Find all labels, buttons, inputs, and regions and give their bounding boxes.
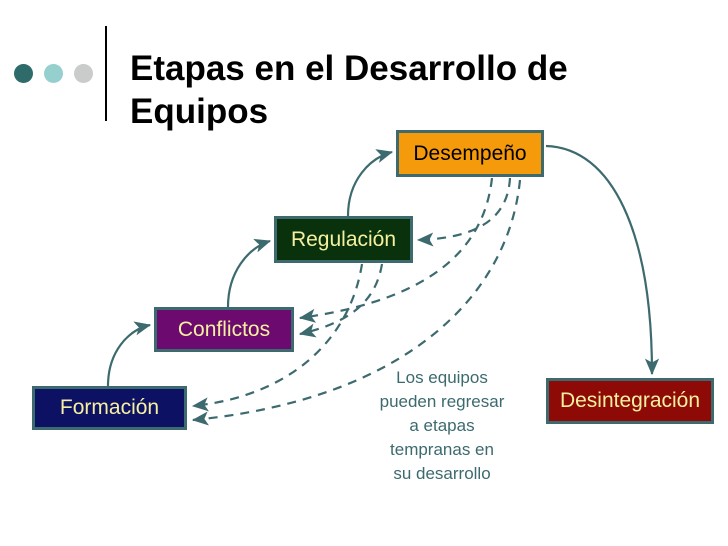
- connector-regulacion-to-desempeno: [348, 152, 392, 216]
- stage-label-regulacion: Regulación: [291, 228, 396, 252]
- stage-box-desempeno[interactable]: Desempeño: [396, 130, 544, 177]
- stage-label-conflictos: Conflictos: [178, 318, 270, 342]
- diagram-caption: Los equipos pueden regresar a etapas tem…: [362, 366, 522, 486]
- stage-box-regulacion[interactable]: Regulación: [274, 216, 413, 263]
- stage-box-formacion[interactable]: Formación: [32, 386, 187, 430]
- slide-canvas: Etapas en el Desarrollo de Equipos Desem…: [0, 0, 728, 546]
- connector-desempeno-to-desintegracion: [546, 146, 652, 374]
- stage-label-desintegracion: Desintegración: [560, 389, 700, 413]
- connector-regulacion-to-conflictos-dashed: [300, 264, 382, 334]
- connector-formacion-to-conflictos: [108, 325, 150, 386]
- stage-box-desintegracion[interactable]: Desintegración: [546, 378, 714, 424]
- connector-conflictos-to-regulacion: [228, 241, 270, 307]
- stage-label-formacion: Formación: [60, 396, 159, 420]
- connector-desempeno-to-regulacion-dashed: [418, 178, 510, 240]
- stage-box-conflictos[interactable]: Conflictos: [154, 307, 294, 352]
- stage-label-desempeno: Desempeño: [413, 142, 526, 166]
